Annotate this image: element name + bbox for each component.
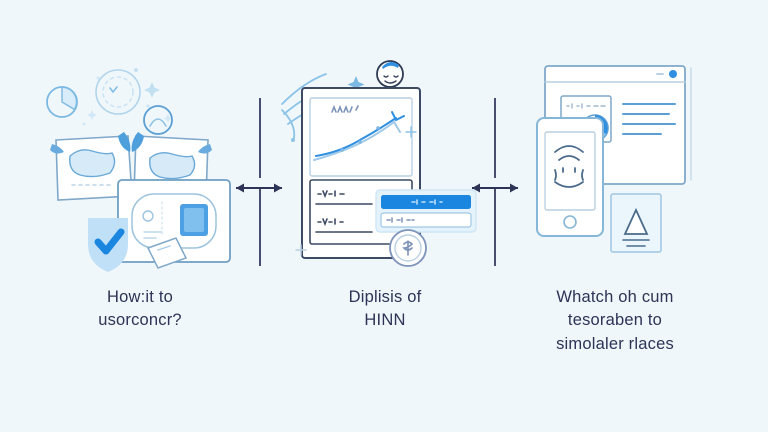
divider-right-bottom [494,188,496,266]
panel-3-artwork [515,52,715,282]
panel-multi-device-preview [515,52,715,282]
cone-card [611,194,661,252]
panel-2-artwork [280,52,490,282]
coin-badge [390,230,426,266]
home-button [564,216,576,228]
secondary-field [381,213,471,227]
floating-action-card [376,190,476,232]
panel-onboarding-verification [40,52,240,282]
phone-device [537,118,603,236]
divider-left-bottom [259,188,261,266]
primary-button [381,195,471,209]
panel-2-caption: Diplisis of HINN [280,286,490,333]
infographic-canvas: How:it to usorconcr? [0,0,768,432]
panel-1-artwork [40,52,240,282]
shield-check-badge [88,218,128,272]
pie-chart-icon [47,87,77,117]
sparkle-cluster [83,68,173,126]
panel-analytics-dashboard [280,52,490,282]
panel-3-caption: Whatch oh cum tesoraben to simolaler rla… [508,286,722,356]
divider-left-top [259,98,261,178]
panel-1-caption: How:it to usorconcr? [40,286,240,333]
divider-right-top [494,98,496,178]
